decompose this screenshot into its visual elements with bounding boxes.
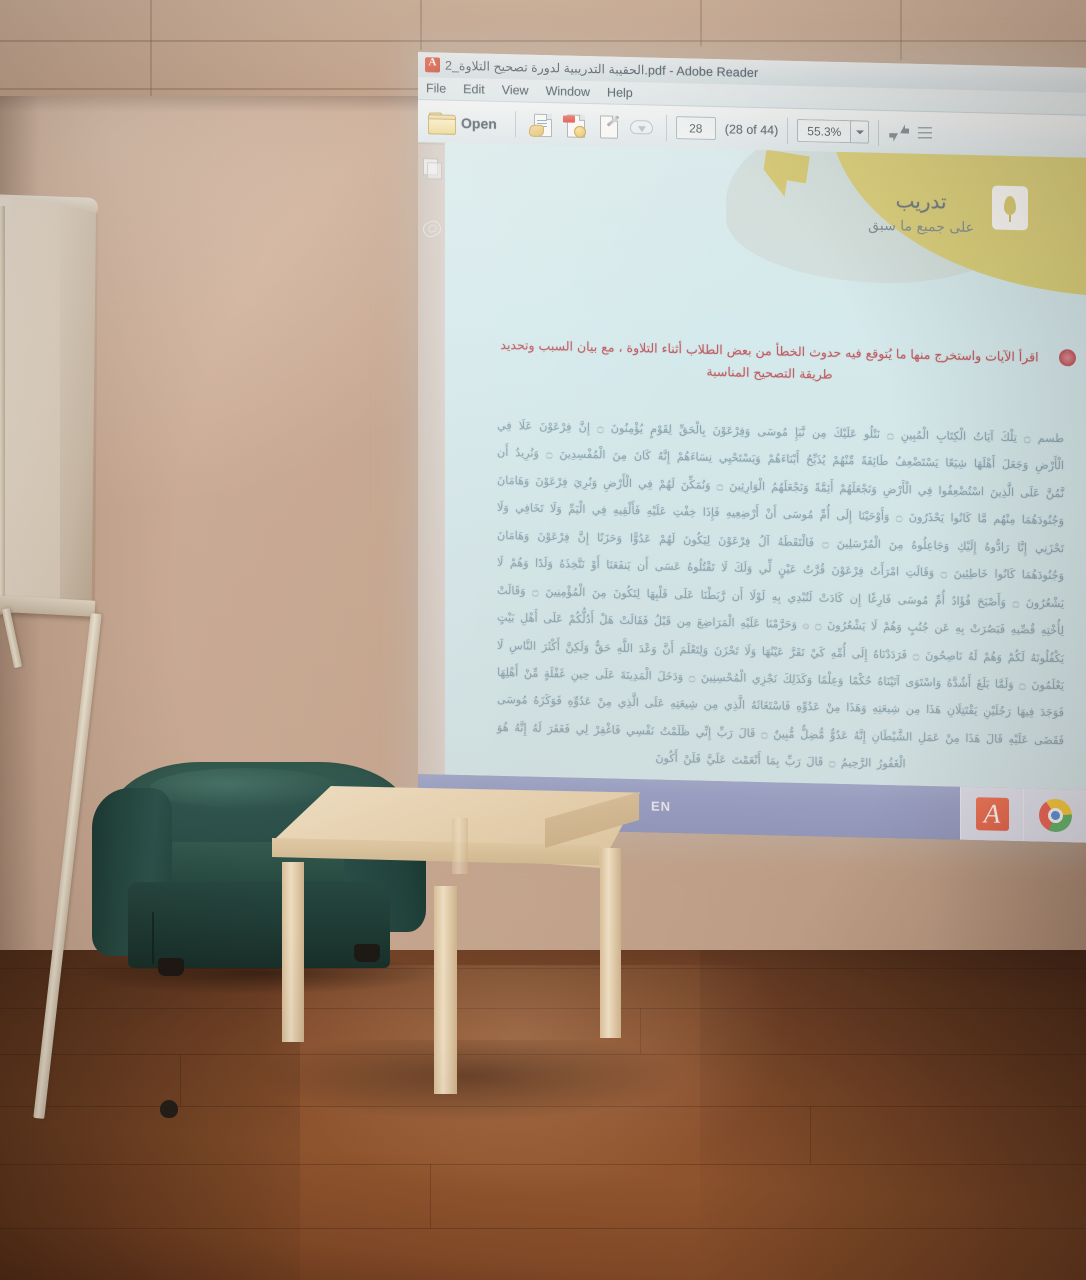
floor-left-shadow — [0, 950, 300, 1280]
wall-projection: الحقيبة التدريبية لدورة تصحيح التلاوة_2 … — [418, 52, 1086, 843]
page-number-input[interactable]: 28 — [676, 116, 716, 140]
armchair-base — [128, 882, 390, 968]
toolbar-divider-4 — [878, 119, 879, 145]
toolbar-divider-3 — [787, 117, 788, 143]
chevron-down-icon[interactable] — [850, 120, 869, 143]
attachments-paperclip-icon[interactable] — [422, 218, 441, 237]
menu-item-edit[interactable]: Edit — [463, 82, 485, 97]
menu-item-view[interactable]: View — [502, 83, 529, 98]
red-star-bullet-icon — [1059, 349, 1076, 366]
instruction-text: اقرأ الآيات واستخرج منها ما يُتوقع فيه ح… — [483, 334, 1056, 391]
toolbar-divider-1 — [515, 111, 516, 137]
side-table-leg-front-right — [434, 886, 457, 1094]
pdf-page-canvas[interactable]: تدريب على جميع ما سبق اقرأ الآيات واستخر… — [445, 143, 1086, 790]
taskbar-app-adobe[interactable] — [960, 787, 1023, 841]
adobe-reader-window: الحقيبة التدريبية لدورة تصحيح التلاوة_2 … — [418, 52, 1086, 790]
zoom-level-input[interactable]: 55.3% — [797, 119, 850, 143]
toolbar-overflow-icon[interactable] — [918, 126, 932, 140]
create-pdf-icon[interactable] — [528, 111, 555, 139]
quran-line: طسم ۝ تِلْكَ آيَاتُ الْكِتَابِ الْمُبِين… — [539, 420, 1064, 445]
page-subtitle: على جميع ما سبق — [868, 218, 974, 236]
quran-card-icon — [992, 186, 1028, 231]
armchair-foot-left — [158, 958, 184, 976]
taskbar-app-chrome[interactable] — [1023, 788, 1086, 842]
menu-item-file[interactable]: File — [426, 81, 446, 95]
open-button[interactable]: Open — [418, 100, 506, 145]
menu-item-help[interactable]: Help — [607, 85, 633, 100]
adobe-acrobat-icon — [425, 57, 440, 72]
side-table-leg-back-right — [600, 848, 621, 1038]
toolbar-task-buttons — [525, 103, 657, 149]
edit-pdf-icon[interactable] — [594, 112, 621, 140]
page-thumbnails-icon[interactable] — [422, 156, 441, 175]
side-table-leg-back-left — [452, 818, 468, 874]
folder-open-icon — [428, 112, 454, 133]
open-button-label: Open — [461, 115, 497, 132]
fit-page-icon[interactable] — [888, 122, 910, 145]
page-count-label: (28 of 44) — [725, 122, 779, 137]
toolbar-divider-2 — [666, 114, 667, 140]
google-chrome-icon — [1039, 799, 1072, 833]
export-pdf-icon[interactable] — [561, 111, 588, 139]
taskbar-pinned-apps — [960, 787, 1086, 843]
page-title: تدريب — [868, 188, 974, 214]
side-table-leg-front-left — [282, 862, 304, 1042]
adobe-acrobat-icon — [976, 797, 1009, 831]
pdf-heading-group: تدريب على جميع ما سبق — [868, 188, 974, 236]
side-table-floor-shadow — [260, 1040, 680, 1120]
easel-leg-foot — [160, 1100, 178, 1118]
armchair-seam — [152, 912, 154, 964]
window-title-suffix: .pdf - Adobe Reader — [644, 63, 758, 80]
navigation-pane-rail — [418, 142, 446, 775]
menu-item-window[interactable]: Window — [546, 84, 590, 99]
armchair-highlight — [150, 768, 340, 808]
quran-text-block: طسم ۝ تِلْكَ آيَاتُ الْكِتَابِ الْمُبِين… — [497, 412, 1064, 782]
room-photo-scene: الحقيبة التدريبية لدورة تصحيح التلاوة_2 … — [0, 0, 1086, 1280]
armchair-foot-right — [354, 944, 380, 962]
window-title-arabic: الحقيبة التدريبية لدورة تصحيح التلاوة_2 — [445, 58, 644, 78]
easel-frame — [0, 206, 5, 606]
language-indicator[interactable]: EN — [651, 798, 671, 813]
cloud-upload-icon[interactable] — [627, 113, 654, 141]
flipchart-paper-fold — [60, 196, 98, 616]
